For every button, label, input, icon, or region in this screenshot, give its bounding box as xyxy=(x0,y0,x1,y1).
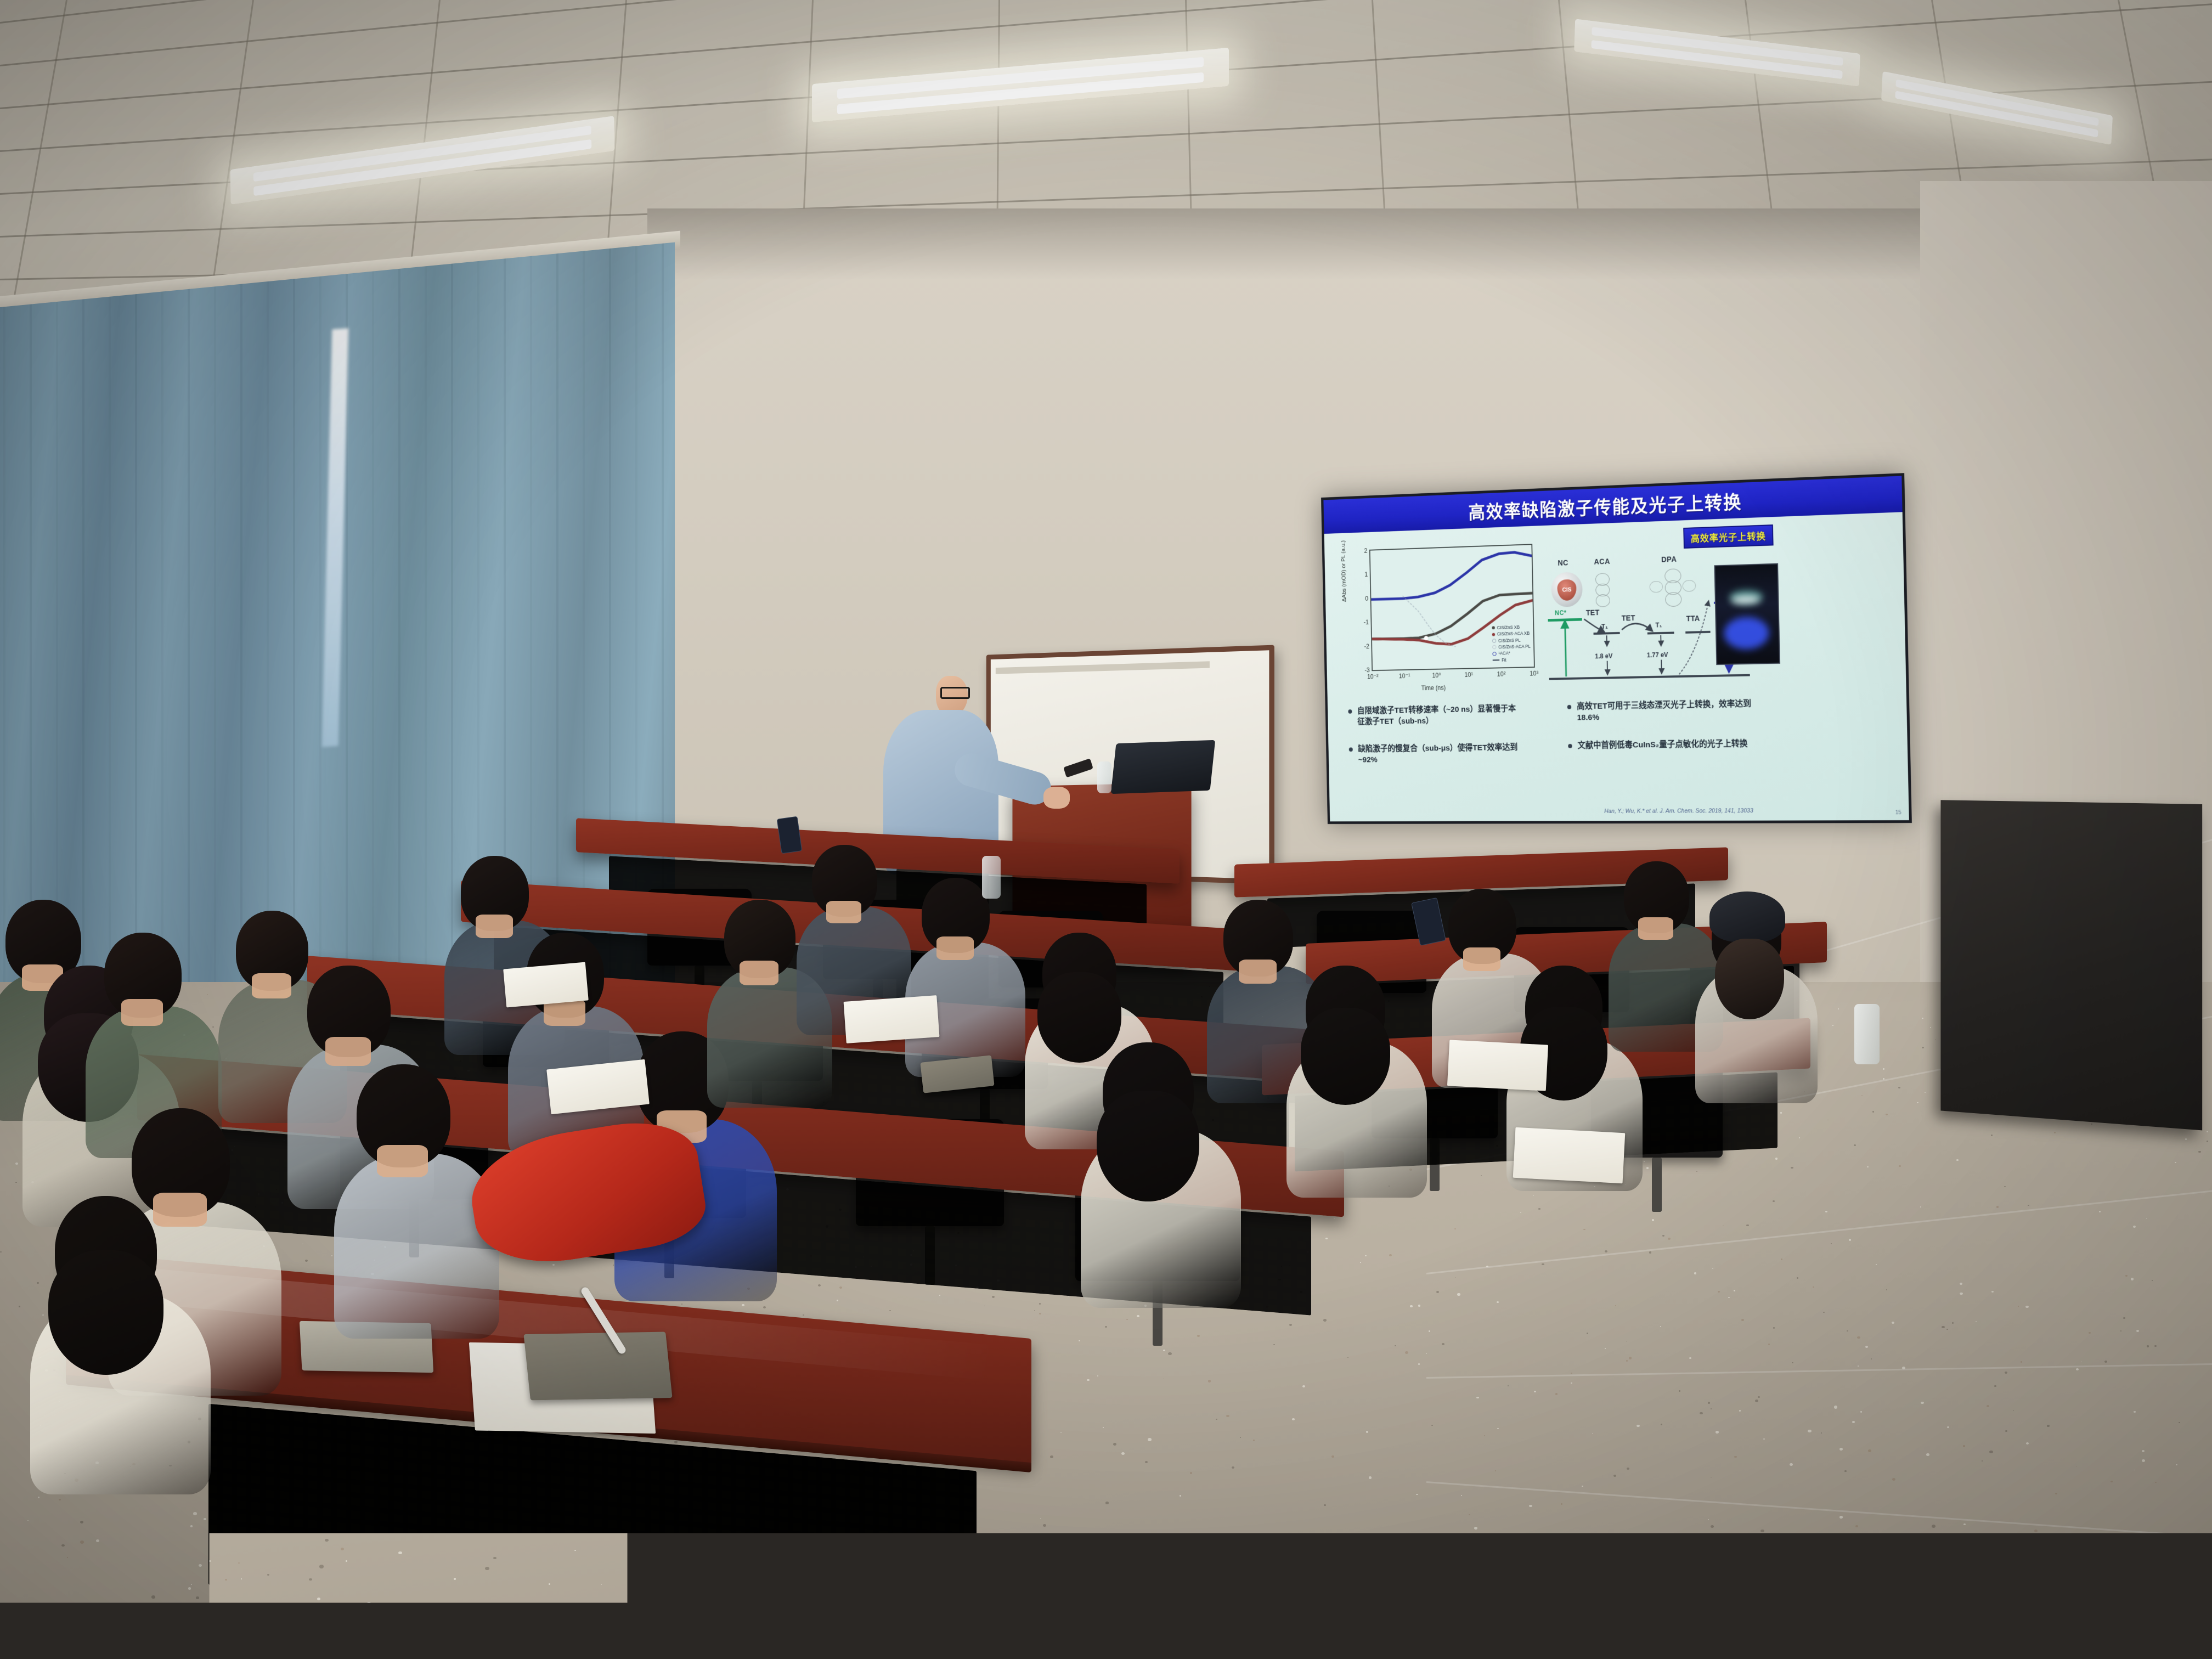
floor-speck xyxy=(2005,1372,2007,1374)
floor-speck xyxy=(2034,1530,2038,1532)
floor-speck xyxy=(1989,1451,1993,1453)
slide: 高效率缺陷激子传能及光子上转换 ΔAbs (mOD) or PL (a.u.) … xyxy=(1323,476,1909,821)
label-nc: NC xyxy=(1558,558,1568,567)
floor-speck xyxy=(61,1544,64,1547)
floor-speck xyxy=(1551,1624,1553,1626)
floor-speck xyxy=(1877,1645,1878,1646)
floor-speck xyxy=(1041,1645,1044,1647)
floor-speck xyxy=(1922,1047,1924,1048)
floor-speck xyxy=(1950,1647,1955,1651)
floor-speck xyxy=(1714,1610,1716,1612)
floor-speck xyxy=(15,1163,18,1165)
floor-speck xyxy=(1868,1449,1871,1452)
water-bottle[interactable] xyxy=(1854,1004,1880,1064)
bullet-text: 缺陷激子的慢复合（sub-μs）使得TET效率达到~92% xyxy=(1358,743,1517,764)
lecture-room-photo: 高效率缺陷激子传能及光子上转换 ΔAbs (mOD) or PL (a.u.) … xyxy=(0,0,2212,1659)
floor-speck xyxy=(1637,1425,1639,1427)
floor-speck xyxy=(194,1649,197,1652)
floor-speck xyxy=(1741,1319,1744,1321)
floor-speck xyxy=(1372,1610,1373,1610)
upconversion-badge: 高效率光子上转换 xyxy=(1683,524,1773,549)
audience-neck xyxy=(936,936,974,960)
bullet-dot xyxy=(1568,744,1572,748)
floor-speck xyxy=(1661,1424,1663,1425)
ceiling-tile-line xyxy=(0,0,2212,66)
floor-speck xyxy=(1811,1583,1814,1585)
floor-speck xyxy=(1325,1238,1328,1239)
floor-speck xyxy=(2076,1466,2077,1466)
floor-speck xyxy=(2091,1124,2092,1125)
floor-speck xyxy=(2146,1218,2147,1219)
floor-speck xyxy=(1545,1533,1549,1537)
podium-bottle[interactable] xyxy=(1097,761,1111,793)
chart-y-tick: 1 xyxy=(1364,571,1368,578)
floor-speck xyxy=(1987,1405,1989,1407)
floor-speck xyxy=(1529,1505,1532,1508)
chart-y-tick: -2 xyxy=(1364,642,1370,650)
floor-speck xyxy=(1839,1448,1843,1451)
floor-speck xyxy=(1302,1385,1305,1387)
floor-speck xyxy=(1991,1135,1993,1136)
floor-speck xyxy=(1469,1514,1470,1516)
chart-x-tick: 10⁰ xyxy=(1432,672,1441,679)
floor-speck xyxy=(1079,1340,1080,1341)
floor-speck xyxy=(1668,1238,1671,1240)
floor-speck xyxy=(1226,1415,1229,1417)
floor-speck xyxy=(1755,1400,1758,1402)
floor-speck xyxy=(1960,1283,1962,1285)
audience-hair-long xyxy=(1301,1008,1391,1104)
whiteboard-marker[interactable] xyxy=(1063,758,1093,777)
floor-speck xyxy=(1508,1385,1509,1386)
floor-speck xyxy=(1166,1541,1170,1544)
floor-speck xyxy=(188,1587,191,1589)
floor-speck xyxy=(1520,1212,1521,1214)
bullet-right-1: 高效TET可用于三线态湮灭光子上转换，效率达到18.6% xyxy=(1577,698,1768,723)
floor-speck xyxy=(1389,1254,1392,1256)
floor-speck xyxy=(2136,1330,2140,1333)
floor-speck xyxy=(1844,1470,1846,1472)
floor-speck xyxy=(1457,1293,1460,1295)
floor-speck xyxy=(1629,1357,1632,1359)
floor-speck xyxy=(1163,1379,1164,1379)
floor-speck xyxy=(984,1306,985,1306)
floor-speck xyxy=(1519,1587,1521,1588)
floor-speck xyxy=(1960,1293,1963,1295)
chart-legend-item: Fit xyxy=(1493,656,1531,663)
floor-speck xyxy=(1852,1421,1855,1423)
floor-speck xyxy=(37,1282,39,1284)
label-dpa: DPA xyxy=(1661,555,1677,563)
floor-speck xyxy=(1474,1527,1477,1530)
floor-speck xyxy=(1653,1610,1657,1613)
floor-speck xyxy=(1613,1475,1616,1477)
floor-speck xyxy=(2089,1332,2091,1334)
floor-speck xyxy=(1649,1251,1651,1253)
floor-speck xyxy=(2154,1345,2157,1347)
floor-speck xyxy=(1295,1581,1297,1582)
floor-speck xyxy=(1476,1397,1479,1399)
floor-speck xyxy=(1872,1111,1875,1113)
floor-speck xyxy=(2099,1211,2101,1212)
floor-speck xyxy=(982,1534,984,1536)
floor-speck xyxy=(2147,1345,2149,1347)
floor-speck xyxy=(1253,1440,1255,1441)
audience-neck xyxy=(325,1037,371,1066)
loose-papers[interactable] xyxy=(844,995,940,1043)
floor-speck xyxy=(1871,1358,1872,1359)
floor-speck xyxy=(1497,1301,1499,1303)
floor-speck xyxy=(2134,1411,2135,1412)
floor-speck xyxy=(1831,1243,1832,1244)
audience-cap xyxy=(1709,891,1785,941)
floor-speck xyxy=(2028,1205,2029,1206)
dpa-molecule-icon xyxy=(1649,581,1663,593)
floor-speck xyxy=(44,1646,47,1649)
floor-speck xyxy=(565,1651,566,1651)
floor-speck xyxy=(1347,1357,1348,1358)
floor-speck xyxy=(1103,1427,1104,1428)
floor-speck xyxy=(1097,1375,1098,1376)
chart-legend-marker xyxy=(1492,633,1496,636)
floor-speck xyxy=(1991,1291,1994,1293)
floor-speck xyxy=(1169,1558,1172,1560)
floor-speck xyxy=(1626,1360,1628,1362)
floor-speck xyxy=(1956,1159,1959,1161)
floor-speck xyxy=(1429,1330,1430,1332)
floor-speck xyxy=(1746,1224,1748,1227)
audience-neck xyxy=(1638,917,1674,940)
floor-speck xyxy=(2058,1636,2062,1639)
floor-speck xyxy=(1390,1596,1392,1598)
floor-speck xyxy=(1060,1432,1062,1433)
floor-speck xyxy=(1892,1322,1894,1324)
floor-speck xyxy=(2021,1361,2023,1363)
floor-speck xyxy=(1410,1305,1412,1307)
label-nc-excited: NC* xyxy=(1555,609,1567,617)
floor-speck xyxy=(1034,1310,1035,1311)
floor-speck xyxy=(1416,1494,1418,1496)
chart-x-tick: 10² xyxy=(1497,670,1506,678)
floor-speck xyxy=(1582,1486,1583,1487)
floor-speck xyxy=(1062,1638,1065,1640)
floor-seam xyxy=(1426,1481,2212,1541)
chart-x-tick: 10⁻¹ xyxy=(1399,672,1410,680)
floor-speck xyxy=(1760,1530,1764,1532)
loose-papers[interactable] xyxy=(503,962,589,1008)
floor-speck xyxy=(1105,1502,1108,1504)
floor-speck xyxy=(1211,1591,1213,1592)
floor-speck xyxy=(1043,1524,1046,1527)
floor-speck xyxy=(1369,1476,1372,1479)
floor-speck xyxy=(1555,1393,1558,1395)
floor-speck xyxy=(1867,1166,1868,1167)
floor-speck xyxy=(1259,1638,1261,1639)
floor-speck xyxy=(585,1644,590,1647)
audience-neck xyxy=(377,1145,428,1178)
floor-speck xyxy=(1148,1438,1152,1441)
floor-speck xyxy=(1679,1390,1681,1392)
kinetics-chart: ΔAbs (mOD) or PL (a.u.) Time (ns) 210-1-… xyxy=(1341,539,1542,700)
floor-speck xyxy=(617,1622,619,1624)
floor-speck xyxy=(1039,1313,1041,1314)
floor-speck xyxy=(2018,1306,2019,1306)
floor-speck xyxy=(506,1638,511,1641)
floor-speck xyxy=(1190,1472,1193,1474)
floor-speck xyxy=(2106,1654,2108,1656)
chart-legend-label: CIS/ZnS-ACA PL xyxy=(1498,643,1531,650)
projection-screen: 高效率缺陷激子传能及光子上转换 ΔAbs (mOD) or PL (a.u.) … xyxy=(1321,473,1912,824)
slide-page-number: 15 xyxy=(1895,810,1901,816)
floor-speck xyxy=(291,1632,295,1635)
audience-hair-long xyxy=(1715,939,1785,1019)
floor-speck xyxy=(1839,1516,1842,1518)
floor-speck xyxy=(1346,1624,1350,1627)
floor-speck xyxy=(2152,1280,2153,1280)
dpa-molecule-icon xyxy=(1665,592,1682,607)
floor-speck xyxy=(1963,1445,1965,1447)
wall-shadow xyxy=(647,208,1964,280)
chart-legend: CIS/ZnS XBCIS/ZnS-ACA XBCIS/ZnS PLCIS/Zn… xyxy=(1492,624,1531,663)
whiteboard-tray xyxy=(996,661,1210,674)
floor-speck xyxy=(889,1310,891,1311)
floor-speck xyxy=(19,1306,20,1307)
floor-speck xyxy=(367,1602,371,1605)
floor-speck xyxy=(1827,1640,1828,1641)
audience-member xyxy=(55,1196,288,1504)
loose-papers[interactable] xyxy=(1513,1127,1626,1183)
floor-speck xyxy=(96,1539,99,1542)
floor-speck xyxy=(80,1521,83,1523)
floor-speck xyxy=(2104,1361,2107,1363)
floor-speck xyxy=(1922,1018,1923,1019)
floor-speck xyxy=(238,1640,240,1642)
floor-speck xyxy=(1615,1305,1616,1306)
floor-speck xyxy=(1163,1350,1166,1352)
floor-speck xyxy=(275,1642,276,1643)
floor-speck xyxy=(328,1604,330,1605)
floor-speck xyxy=(1121,1452,1125,1455)
floor-speck xyxy=(1925,1092,1926,1093)
floor-speck xyxy=(1768,1344,1770,1345)
nc-core-label: CIS xyxy=(1557,579,1577,601)
floor-speck xyxy=(1996,1206,1999,1207)
floor-speck xyxy=(2134,1470,2135,1470)
floor-speck xyxy=(1857,1336,1860,1339)
blue-glow xyxy=(1724,617,1769,650)
presenter-glasses xyxy=(940,687,970,699)
ground-state-line xyxy=(1549,674,1750,680)
floor-speck xyxy=(1694,1272,1696,1274)
energy-value-dpa: 1.77 eV xyxy=(1647,651,1668,659)
tta-label: TTA xyxy=(1686,614,1700,623)
floor-speck xyxy=(1323,1319,1327,1322)
floor-speck xyxy=(2068,1544,2070,1545)
leaning-dark-panel xyxy=(1940,800,2202,1130)
floor-speck xyxy=(396,1613,400,1617)
loose-papers[interactable] xyxy=(1447,1040,1548,1091)
floor-speck xyxy=(1324,1504,1325,1506)
aca-molecule-icon xyxy=(1596,594,1610,607)
chart-legend-label: CIS/ZnS XB xyxy=(1497,624,1520,631)
floor-speck xyxy=(1442,1343,1444,1345)
floor-speck xyxy=(1292,1418,1295,1420)
floor-speck xyxy=(1876,1264,1877,1265)
floor-speck xyxy=(1708,1519,1709,1520)
floor-speck xyxy=(2198,1584,2201,1587)
floor-speck xyxy=(193,1512,197,1515)
floor-speck xyxy=(2133,1226,2136,1228)
floor-speck xyxy=(939,1295,940,1296)
floor-speck xyxy=(1732,1596,1735,1599)
floor-speck xyxy=(1461,1495,1462,1496)
floor-speck xyxy=(1113,1443,1116,1446)
floor-speck xyxy=(2120,1330,2121,1331)
floor-speck xyxy=(992,1296,995,1298)
water-bottle[interactable] xyxy=(982,856,1001,899)
chart-legend-marker xyxy=(1492,627,1496,630)
floor-speck xyxy=(204,1518,206,1520)
floor-speck xyxy=(1860,1411,1863,1413)
ceiling-tile-line xyxy=(0,0,2212,24)
floor-speck xyxy=(2195,1636,2199,1639)
floor-speck xyxy=(1331,1455,1334,1458)
floor-speck xyxy=(317,1627,318,1628)
slide-body: ΔAbs (mOD) or PL (a.u.) Time (ns) 210-1-… xyxy=(1324,512,1909,821)
floor-speck xyxy=(2025,1306,2029,1308)
floor-speck xyxy=(1813,1286,1814,1288)
floor-speck xyxy=(65,1610,66,1611)
dpa-molecule-icon xyxy=(1682,580,1696,592)
floor-speck xyxy=(1689,1357,1691,1359)
floor-speck xyxy=(151,1595,155,1598)
floor-speck xyxy=(1854,1144,1856,1146)
floor-speck xyxy=(2092,1563,2093,1564)
floor-speck xyxy=(27,1520,29,1521)
floor-speck xyxy=(190,1525,193,1527)
floor-speck xyxy=(1669,1609,1672,1611)
floor-speck xyxy=(1269,1537,1271,1538)
floor-speck xyxy=(1932,1525,1936,1528)
floor-speck xyxy=(1682,1543,1686,1547)
floor-speck xyxy=(1390,1547,1393,1550)
floor-speck xyxy=(1723,1226,1724,1226)
floor-speck xyxy=(1781,1259,1782,1260)
floor-speck xyxy=(2125,1275,2128,1277)
energy-level-t1-aca xyxy=(1594,632,1620,635)
floor-speck xyxy=(78,1632,81,1634)
floor-speck xyxy=(2175,1162,2176,1163)
chart-legend-marker xyxy=(1492,645,1496,650)
floor-speck xyxy=(1837,1559,1840,1561)
presenter-laptop[interactable] xyxy=(1111,740,1215,794)
floor-speck xyxy=(1716,1577,1719,1580)
floor-speck xyxy=(1455,1277,1456,1278)
floor-speck xyxy=(2004,1186,2006,1187)
floor-speck xyxy=(2123,1317,2125,1319)
floor-speck xyxy=(1324,1573,1326,1574)
floor-speck xyxy=(1395,1345,1396,1347)
floor-speck xyxy=(2155,1482,2157,1483)
floor-speck xyxy=(1914,1597,1916,1599)
floor-speck xyxy=(1405,1351,1408,1354)
floor-speck xyxy=(1592,1434,1593,1434)
audience-neck xyxy=(252,973,291,998)
floor-speck xyxy=(1921,1402,1924,1404)
floor-speck xyxy=(1180,1495,1181,1497)
floor-speck xyxy=(2185,1138,2187,1139)
audience-neck xyxy=(121,999,163,1026)
bullet-dot xyxy=(1567,705,1571,709)
floor-speck xyxy=(15,1182,16,1183)
floor-speck xyxy=(4,1638,8,1641)
floor-speck xyxy=(1497,1428,1498,1429)
floor-speck xyxy=(199,1564,202,1567)
floor-speck xyxy=(1963,1523,1966,1526)
floor-speck xyxy=(1571,1373,1572,1374)
floor-speck xyxy=(1660,1326,1661,1327)
label-aca: ACA xyxy=(1594,557,1610,566)
floor-speck xyxy=(1834,1406,1838,1408)
floor-speck xyxy=(1289,1324,1292,1326)
floor-speck xyxy=(1821,1608,1824,1610)
energy-level-tta xyxy=(1685,631,1710,634)
floor-speck xyxy=(1888,993,1889,994)
floor-speck xyxy=(2179,1422,2180,1423)
floor-speck xyxy=(1926,1453,1929,1456)
floor-speck xyxy=(1087,1379,1090,1381)
floor-speck xyxy=(1208,1380,1211,1382)
floor-speck xyxy=(1758,1630,1761,1633)
floor-speck xyxy=(1197,1335,1200,1337)
floor-speck xyxy=(1216,1419,1217,1420)
chart-legend-marker xyxy=(1493,659,1500,661)
floor-speck xyxy=(977,1609,981,1612)
floor-speck xyxy=(2081,1362,2082,1362)
floor-speck xyxy=(1626,1341,1627,1342)
floor-speck xyxy=(1585,1570,1589,1573)
floor-speck xyxy=(1865,1346,1868,1348)
floor-speck xyxy=(1798,1648,1799,1649)
floor-speck xyxy=(1240,1437,1241,1438)
floor-speck xyxy=(1886,1289,1887,1290)
chart-y-tick: 2 xyxy=(1364,547,1367,554)
floor-speck xyxy=(2054,1132,2056,1133)
chart-x-tick: 10³ xyxy=(1530,670,1538,678)
floor-speck xyxy=(38,1497,39,1498)
floor-speck xyxy=(1785,1558,1788,1561)
tet-label-1: TET xyxy=(1586,608,1600,617)
floor-speck xyxy=(1775,1158,1778,1160)
floor-speck xyxy=(1039,1303,1041,1304)
floor-speck xyxy=(1534,1391,1536,1392)
chart-x-tick: 10¹ xyxy=(1464,671,1473,679)
audience-hair-long xyxy=(48,1250,164,1375)
floor-speck xyxy=(1430,1613,1431,1614)
bullet-right-2: 文献中首例低毒CuInS₂量子点敏化的光子上转换 xyxy=(1577,738,1768,752)
floor-speck xyxy=(1982,1460,1983,1462)
floor-speck xyxy=(1587,1333,1589,1334)
floor-speck xyxy=(1716,1431,1719,1434)
energy-value-aca: 1.8 eV xyxy=(1595,652,1612,660)
floor-speck xyxy=(2142,1459,2145,1462)
floor-speck xyxy=(67,1557,68,1558)
floor-speck xyxy=(1855,1525,1858,1527)
floor-speck xyxy=(1522,1651,1525,1654)
floor-speck xyxy=(1886,1114,1888,1115)
floor-speck xyxy=(1360,1262,1361,1262)
floor-speck xyxy=(1930,1027,1932,1028)
